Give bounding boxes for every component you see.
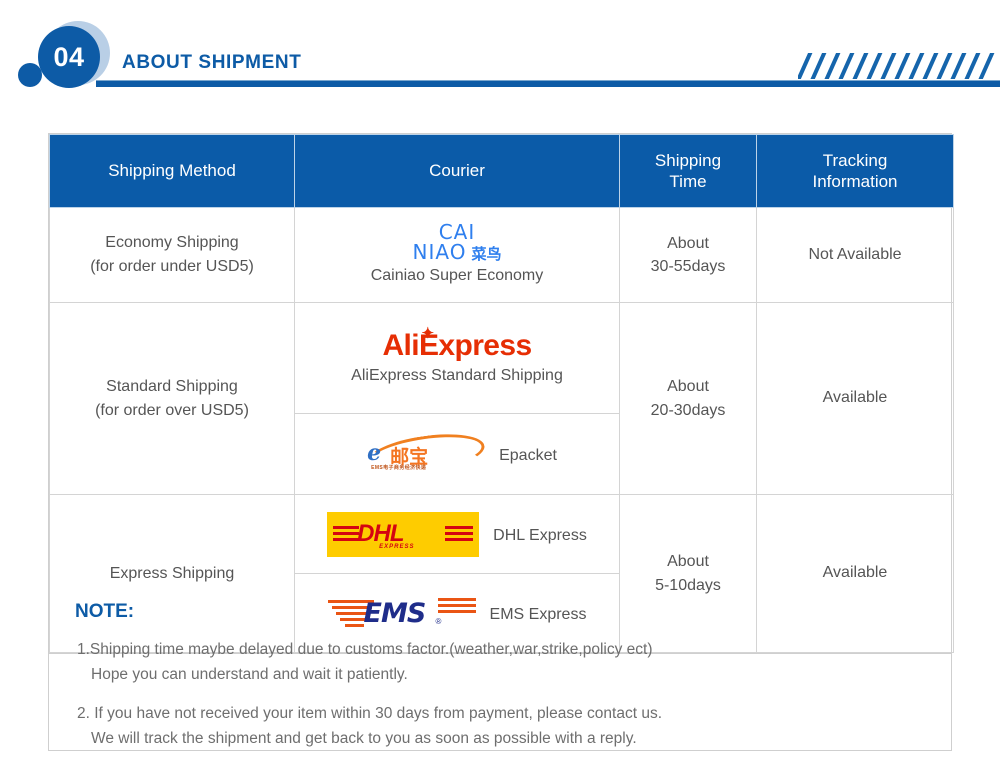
aliexpress-logo: ✦ AliExpress — [382, 329, 531, 362]
shipping-time-line1: Shipping — [621, 150, 755, 171]
time-line2: 30-55days — [621, 255, 755, 278]
note-item-2-line2: We will track the shipment and get back … — [91, 726, 933, 751]
cainiao-logo-line2: NIAO — [413, 242, 467, 262]
epacket-logo-e: e — [367, 440, 381, 466]
note-item-1-line2: Hope you can understand and wait it pati… — [91, 662, 933, 687]
courier-caption-aliexpress: AliExpress Standard Shipping — [299, 365, 615, 387]
section-number-badge: 04 — [38, 26, 100, 88]
dhl-bar-left-1 — [333, 526, 359, 529]
courier-caption-dhl: DHL Express — [493, 527, 587, 545]
column-header-courier: Courier — [295, 135, 620, 208]
method-line2: (for order under USD5) — [56, 255, 288, 279]
cell-shipping-time-standard: About 20-30days — [620, 303, 757, 495]
courier-cainiao: CAI NIAO菜鸟 Cainiao Super Economy — [299, 222, 615, 287]
cainiao-logo: CAI NIAO菜鸟 — [299, 222, 615, 262]
time-line2: 20-30days — [621, 399, 755, 422]
cainiao-logo-line1: CAI — [299, 222, 615, 242]
time-line1: About — [621, 232, 755, 255]
cell-tracking-economy: Not Available — [757, 208, 954, 303]
dhl-logo-subtext: EXPRESS — [379, 544, 414, 550]
header-diagonal-stripes — [798, 53, 1000, 79]
page-header: 04 ABOUT SHIPMENT — [0, 0, 1000, 110]
shipping-table-container: Shipping Method Courier Shipping Time Tr… — [48, 133, 952, 654]
epacket-logo: e 邮宝 EMS电子商务经济快递 — [357, 434, 485, 474]
courier-caption-epacket: Epacket — [499, 447, 557, 465]
time-line1: About — [621, 550, 755, 573]
dhl-logo: DHL EXPRESS — [327, 512, 479, 557]
note-section: NOTE: 1.Shipping time maybe delayed due … — [48, 583, 952, 751]
courier-caption-cainiao: Cainiao Super Economy — [299, 265, 615, 287]
cell-courier-epacket: e 邮宝 EMS电子商务经济快递 Epacket — [295, 414, 620, 495]
method-line1: Standard Shipping — [56, 375, 288, 399]
note-item-1-line1: 1.Shipping time maybe delayed due to cus… — [77, 641, 653, 658]
cell-shipping-time-economy: About 30-55days — [620, 208, 757, 303]
column-header-shipping-time: Shipping Time — [620, 135, 757, 208]
note-item-2-line1: 2. If you have not received your item wi… — [77, 705, 662, 722]
cell-shipping-method-economy: Economy Shipping (for order under USD5) — [50, 208, 295, 303]
cell-courier-cainiao: CAI NIAO菜鸟 Cainiao Super Economy — [295, 208, 620, 303]
aliexpress-sparkle-icon: ✦ — [421, 326, 433, 341]
table-row: Economy Shipping (for order under USD5) … — [50, 208, 954, 303]
dhl-bar-left-2 — [333, 532, 359, 535]
shipping-table: Shipping Method Courier Shipping Time Tr… — [49, 134, 954, 653]
cainiao-logo-chinese: 菜鸟 — [471, 245, 501, 263]
header-rule-thick — [96, 81, 1000, 87]
courier-epacket: e 邮宝 EMS电子商务经济快递 Epacket — [299, 434, 615, 474]
dhl-bar-right-2 — [445, 532, 473, 535]
stripe-bar — [976, 53, 996, 79]
dhl-bar-left-3 — [333, 538, 359, 541]
method-line1: Economy Shipping — [56, 231, 288, 255]
note-item-1: 1.Shipping time maybe delayed due to cus… — [77, 637, 933, 687]
cell-tracking-standard: Available — [757, 303, 954, 495]
note-title: NOTE: — [75, 601, 933, 623]
cainiao-logo-line2-wrap: NIAO菜鸟 — [299, 242, 615, 262]
tracking-line1: Tracking — [758, 150, 952, 171]
aliexpress-logo-text: AliExpress — [382, 329, 531, 362]
epacket-logo-subtext: EMS电子商务经济快递 — [371, 464, 426, 471]
tracking-line2: Information — [758, 171, 952, 192]
dhl-bar-right-3 — [445, 538, 473, 541]
shipping-time-line2: Time — [621, 171, 755, 192]
courier-aliexpress: ✦ AliExpress AliExpress Standard Shippin… — [299, 329, 615, 388]
courier-dhl: DHL EXPRESS DHL Express — [299, 512, 615, 557]
table-row: Standard Shipping (for order over USD5) … — [50, 303, 954, 414]
dhl-bar-right-1 — [445, 526, 473, 529]
cell-courier-dhl: DHL EXPRESS DHL Express — [295, 495, 620, 574]
method-line2: (for order over USD5) — [56, 399, 288, 423]
method-line1: Express Shipping — [56, 562, 288, 586]
time-line1: About — [621, 375, 755, 398]
header-accent-dot — [18, 63, 42, 87]
column-header-tracking-information: Tracking Information — [757, 135, 954, 208]
page-title: ABOUT SHIPMENT — [122, 52, 301, 74]
table-header-row: Shipping Method Courier Shipping Time Tr… — [50, 135, 954, 208]
cell-courier-aliexpress: ✦ AliExpress AliExpress Standard Shippin… — [295, 303, 620, 414]
table-row: Express Shipping DHL EXPRESS DHL Express — [50, 495, 954, 574]
column-header-shipping-method: Shipping Method — [50, 135, 295, 208]
note-item-2: 2. If you have not received your item wi… — [77, 701, 933, 751]
cell-shipping-method-standard: Standard Shipping (for order over USD5) — [50, 303, 295, 495]
